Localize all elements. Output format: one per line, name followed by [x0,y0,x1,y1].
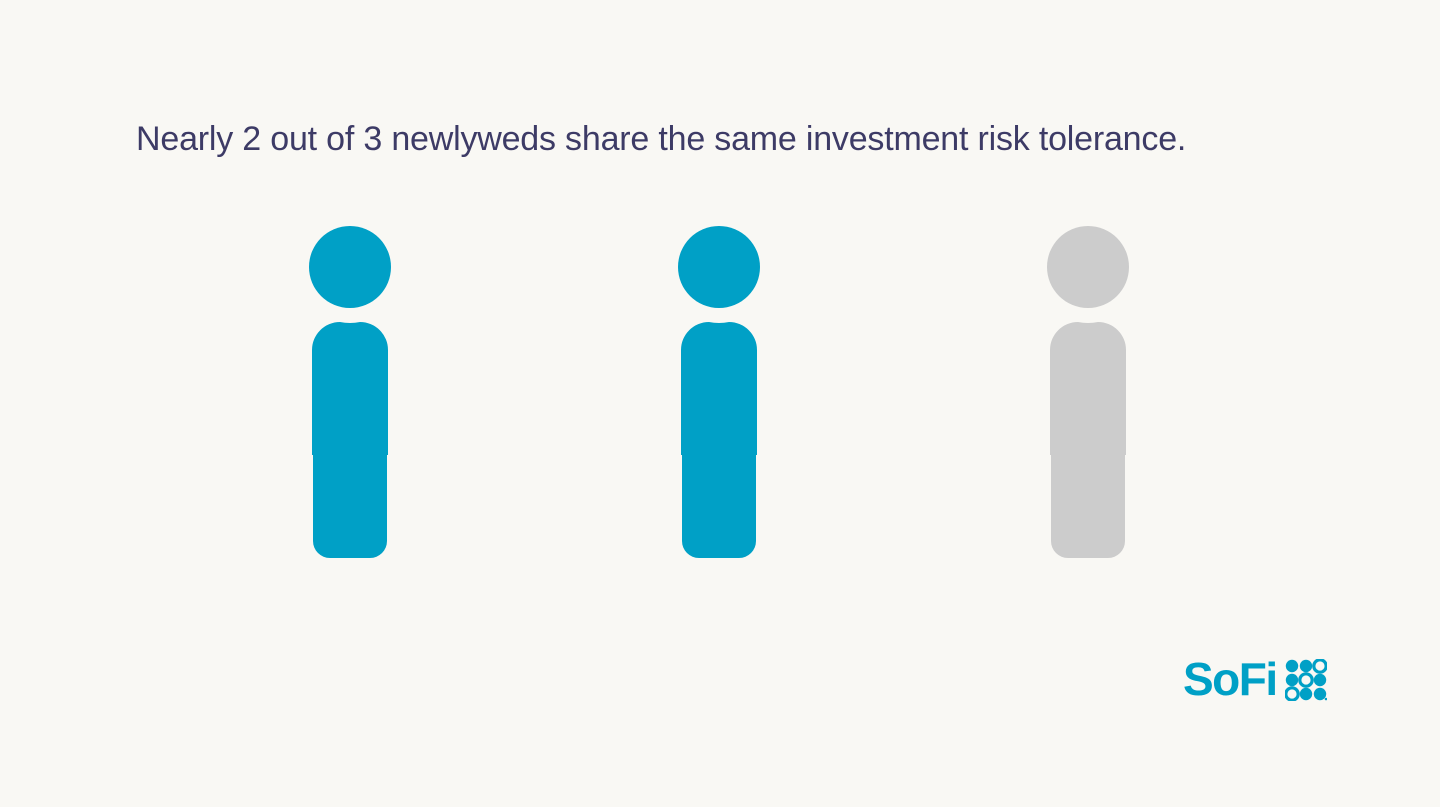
person-figure-filled-1 [288,225,412,559]
person-figure-muted-3 [1026,225,1150,559]
person-icon [288,225,412,559]
sofi-wordmark: SoFi [1183,656,1277,702]
sofi-logo: SoFi [1183,655,1327,703]
page-title: Nearly 2 out of 3 newlyweds share the sa… [136,118,1186,160]
pictogram-chart [0,225,1440,565]
person-icon [1026,225,1150,559]
infographic-slide: Nearly 2 out of 3 newlyweds share the sa… [0,0,1440,807]
sofi-grid-icon [1285,659,1327,701]
person-figure-filled-2 [657,225,781,559]
person-icon [657,225,781,559]
